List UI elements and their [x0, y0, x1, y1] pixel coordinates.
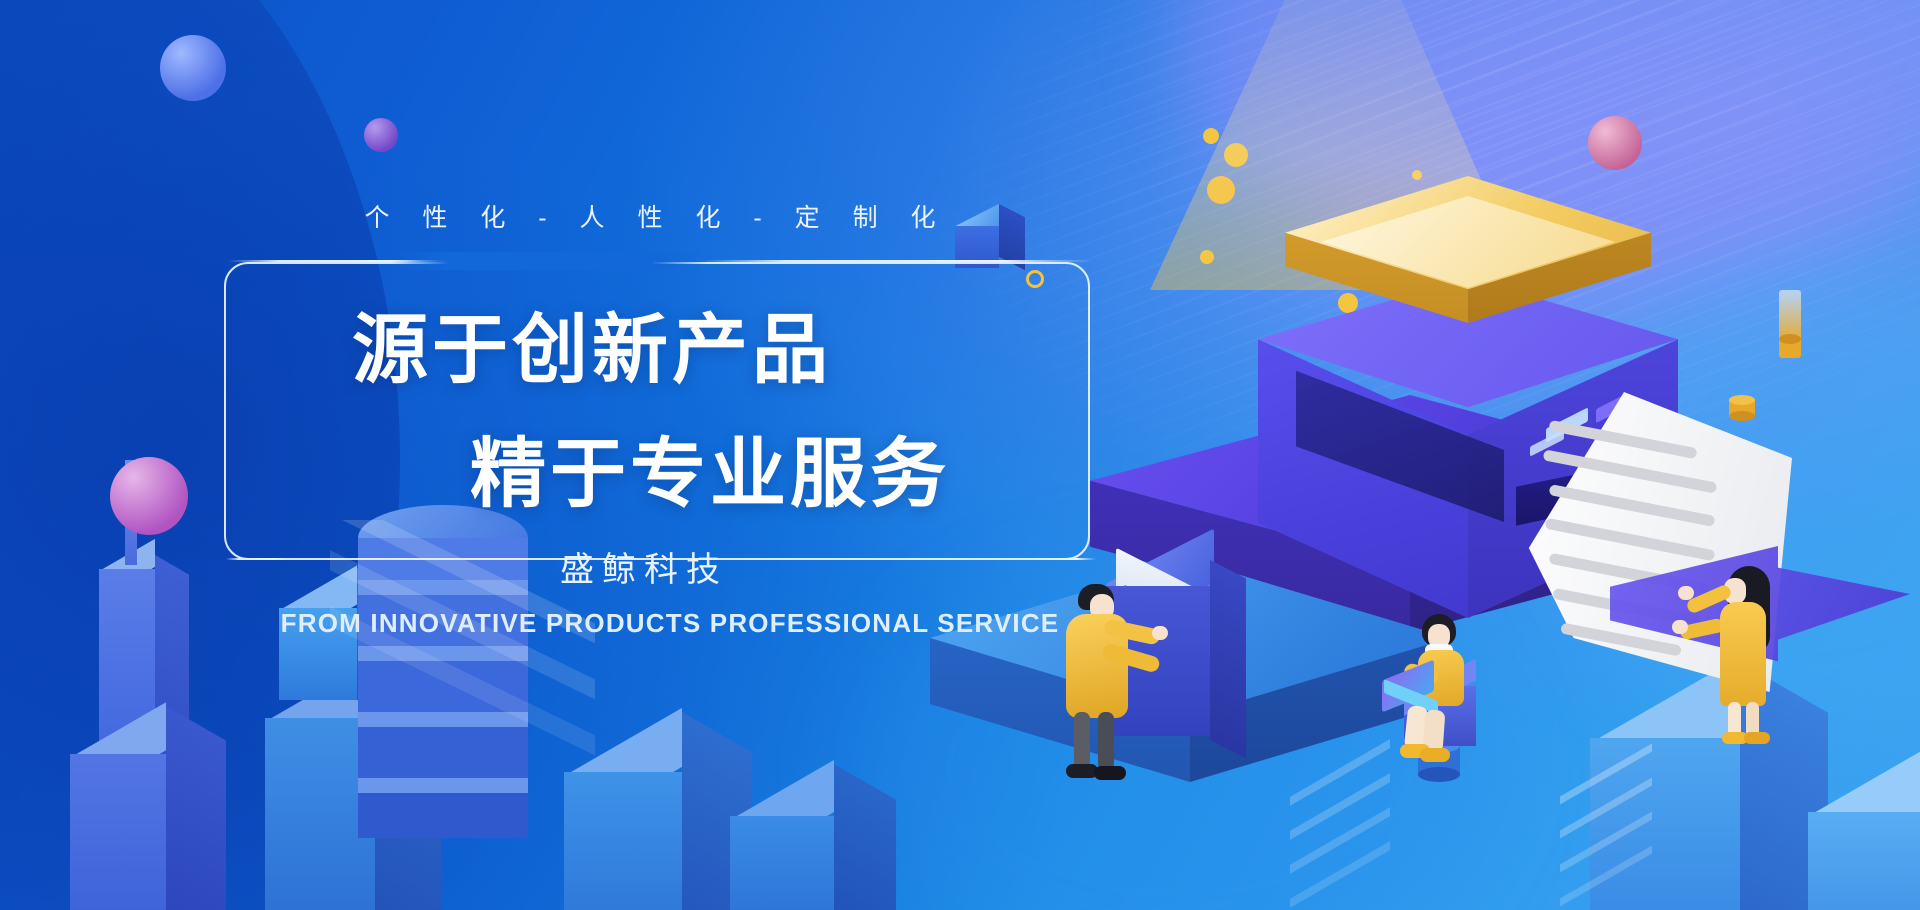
seat-block-top — [1404, 658, 1476, 715]
wave-pattern-secondary — [746, 0, 1920, 543]
yellow-dot-d — [1207, 176, 1235, 204]
frame-top-gap-mask — [392, 252, 708, 270]
face — [1090, 594, 1114, 620]
light-beam — [1150, 0, 1530, 290]
headline-line-2: 精于专业服务 — [470, 412, 950, 522]
yellow-dot-f — [1498, 217, 1510, 229]
document-text-line — [1543, 449, 1718, 493]
hand — [1152, 626, 1168, 640]
tagline: 个 性 化 - 人 性 化 - 定 制 化 — [0, 198, 1300, 234]
leg — [1423, 709, 1446, 752]
purple-sphere-right-mid — [1712, 448, 1778, 514]
torso — [1418, 650, 1464, 706]
gold-cylinder-icon — [1779, 290, 1801, 358]
kiosk-keypad — [1124, 607, 1198, 669]
printed-document-scroll — [1512, 392, 1792, 692]
plus-icon-cyan — [1381, 228, 1398, 245]
standing-woman-with-document — [1702, 566, 1802, 746]
frame-accent-line-bottom — [1010, 558, 1096, 560]
kiosk-terminal — [1094, 556, 1254, 776]
kiosk-screen-line — [1124, 584, 1186, 623]
yellow-dot-e — [1338, 293, 1358, 313]
man-at-kiosk-terminal — [1056, 584, 1152, 784]
laptop — [1382, 659, 1434, 712]
purple-sphere-top-left — [160, 35, 226, 101]
building-chevron-center — [330, 520, 595, 820]
leg — [1746, 702, 1759, 738]
machine-output-slot — [1516, 454, 1652, 532]
face — [1724, 578, 1746, 604]
magenta-sphere-left — [110, 457, 188, 535]
arrow-indicator — [1610, 546, 1910, 666]
seated-woman-with-laptop — [1396, 614, 1506, 774]
arm — [1403, 662, 1440, 686]
shoe — [1094, 766, 1126, 780]
isometric-illustration — [0, 0, 1920, 910]
platform-violet — [1090, 395, 1730, 725]
hair — [1728, 566, 1770, 652]
document-text-line — [1548, 484, 1715, 527]
shoe — [1744, 732, 1770, 744]
left-vignette — [0, 0, 400, 910]
arm-raised — [1685, 583, 1733, 614]
building-window-grid-right — [1560, 760, 1690, 910]
leg — [1728, 702, 1741, 738]
leg — [1074, 712, 1090, 770]
kiosk-screen — [1116, 548, 1204, 651]
machine-glow-plate — [1285, 176, 1651, 386]
dress — [1720, 602, 1766, 706]
document-text-line — [1545, 518, 1716, 562]
arm — [1103, 618, 1161, 645]
collar — [1425, 644, 1453, 656]
plus-icon-left — [940, 358, 962, 380]
face — [1428, 624, 1450, 648]
shoe — [1722, 732, 1748, 744]
headline-frame — [224, 262, 1090, 560]
promo-banner: 个 性 化 - 人 性 化 - 定 制 化 源于创新产品 精于专业服务 盛鲸科技… — [0, 0, 1920, 910]
blue-cylinder-icon — [1418, 738, 1460, 782]
document-text-line — [1548, 420, 1697, 459]
hand — [1678, 586, 1694, 600]
document-text-line — [1560, 622, 1682, 656]
leg — [1098, 712, 1114, 770]
frame-accent-line-left — [228, 260, 458, 262]
seat-block — [1404, 686, 1476, 746]
plus-icon-right — [1432, 145, 1458, 171]
document-text-line — [1552, 588, 1701, 627]
background-layer — [0, 0, 1920, 910]
gold-cylinder-icon-small — [1729, 395, 1755, 421]
city-skyline-layer — [0, 0, 1920, 910]
machine-body — [1258, 278, 1678, 618]
purple-sphere-small — [364, 118, 398, 152]
document-text-line — [1548, 553, 1709, 595]
frame-accent-line-bottom-left — [226, 558, 286, 560]
english-subtitle: FROM INNOVATIVE PRODUCTS PROFESSIONAL SE… — [0, 608, 1340, 639]
platform-blue-left — [930, 560, 1450, 860]
machine-indicator-light-c — [1530, 429, 1564, 456]
shoe — [1420, 748, 1450, 762]
wave-pattern-primary — [576, 0, 1920, 757]
arm-lower — [1679, 618, 1725, 641]
machine-indicator-light-a — [1546, 407, 1588, 442]
purple-glow-blob — [1180, 0, 1920, 300]
yellow-dot-c — [1412, 170, 1422, 180]
magenta-sphere-top-right — [1588, 116, 1642, 170]
text-content-layer: 个 性 化 - 人 性 化 - 定 制 化 源于创新产品 精于专业服务 盛鲸科技… — [0, 0, 1920, 910]
coat — [1066, 614, 1128, 718]
hair — [1078, 584, 1114, 610]
shoe — [1400, 744, 1430, 758]
building-window-grid-mid — [1290, 760, 1430, 910]
hair — [1422, 614, 1456, 646]
yellow-dot-b — [1224, 143, 1248, 167]
machine-indicator-light-b — [1596, 395, 1624, 423]
brand-name: 盛鲸科技 — [0, 542, 1280, 591]
yellow-dot-a — [1203, 128, 1219, 144]
yellow-ring-icon — [1026, 270, 1044, 288]
laptop-base — [1384, 679, 1438, 715]
hand — [1672, 620, 1688, 634]
headline-line-1: 源于创新产品 — [352, 288, 832, 398]
shoe — [1066, 764, 1098, 778]
arm — [1101, 642, 1161, 673]
blue-glow-blob-bottom — [860, 560, 1500, 910]
yellow-dot-g — [1200, 250, 1214, 264]
cyan-glow-blob — [1560, 260, 1920, 740]
decorative-shapes-layer — [0, 0, 1920, 910]
frame-accent-line-right — [700, 260, 1092, 262]
building-antenna-left — [125, 460, 137, 565]
leg — [1404, 705, 1428, 751]
